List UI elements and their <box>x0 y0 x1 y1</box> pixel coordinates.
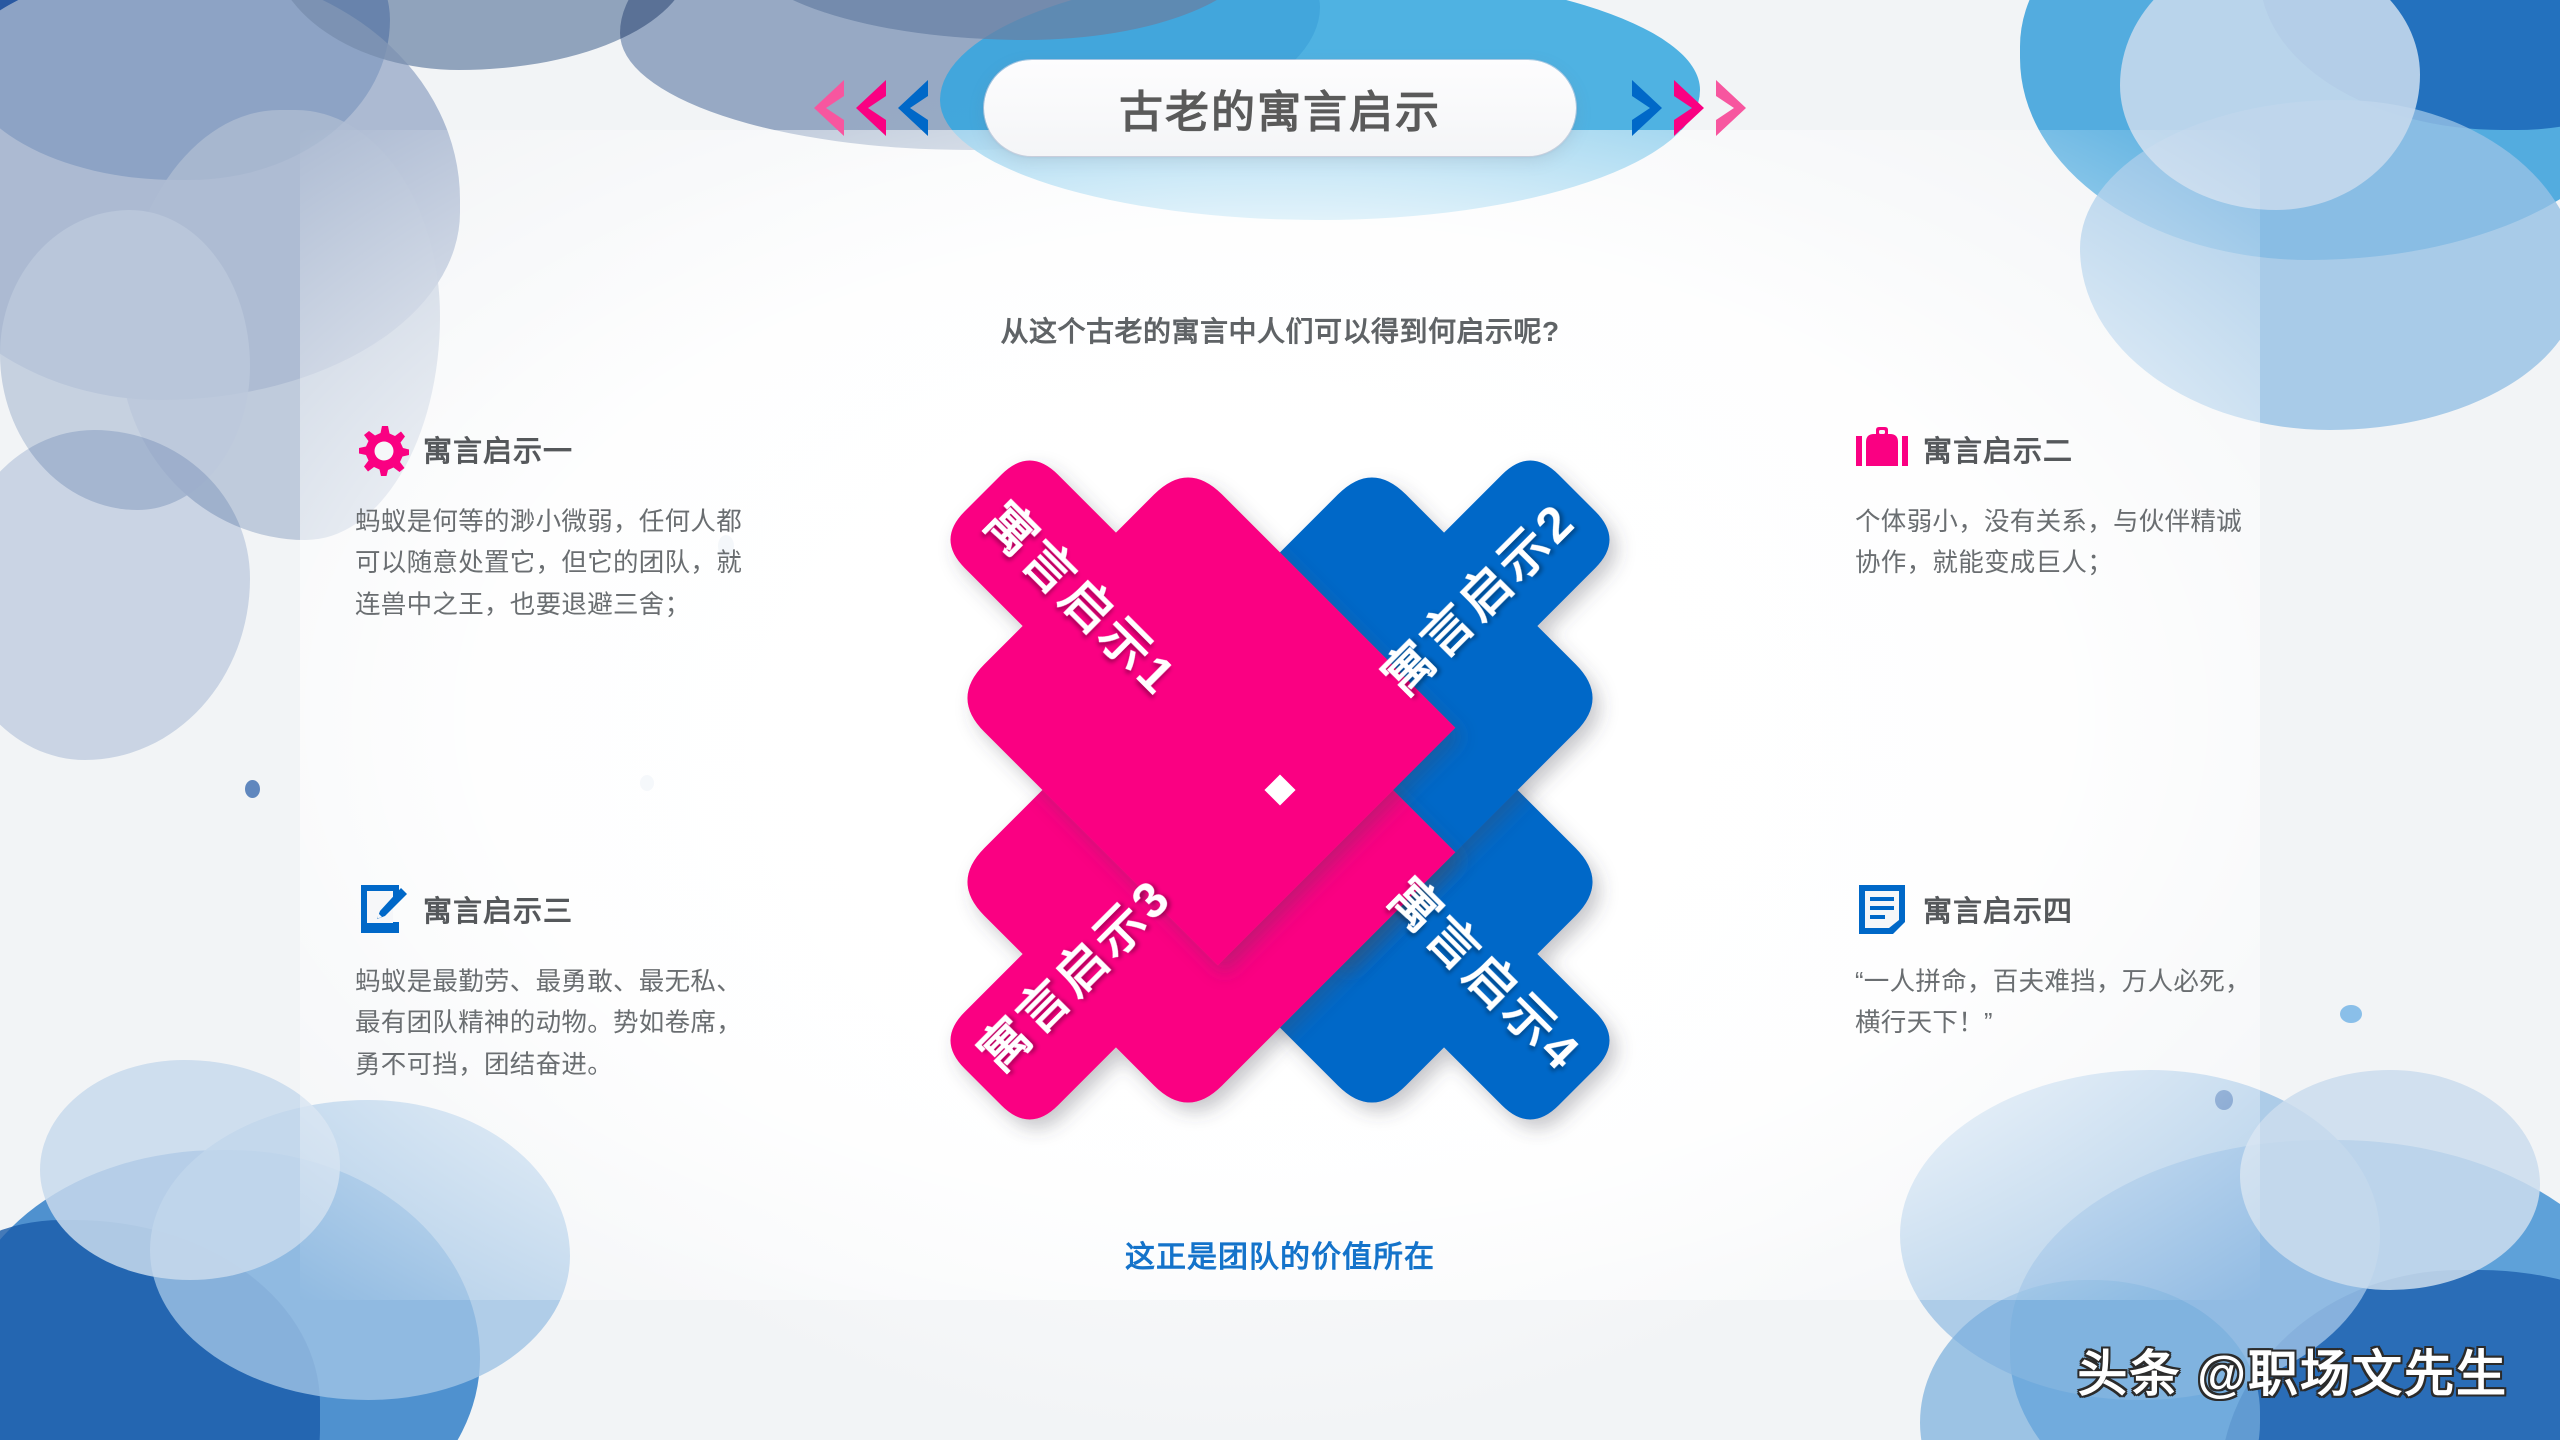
insight-block-three: 寓言启示三 蚂蚁是最勤劳、最勇敢、最无私、最有团队精神的动物。势如卷席，勇不可挡… <box>355 882 755 1086</box>
crossed-arrows-diagram: 寓言启示1 寓言启示2 寓言启示3 寓言启示4 <box>730 390 1830 1190</box>
chevron-left-icon <box>850 80 890 136</box>
block-body: 个体弱小，没有关系，与伙伴精诚协作，就能变成巨人； <box>1855 502 2255 585</box>
chevron-left-icon <box>892 80 932 136</box>
block-title: 寓言启示四 <box>1923 888 2073 930</box>
paint-speck <box>2215 1090 2233 1110</box>
block-title: 寓言启示三 <box>423 888 573 930</box>
block-body: 蚂蚁是何等的渺小微弱，任何人都可以随意处置它，但它的团队，就连兽中之王，也要退避… <box>355 502 755 626</box>
paint-speck <box>640 775 654 791</box>
block-title: 寓言启示一 <box>423 428 573 470</box>
document-pencil-icon <box>355 882 409 936</box>
insight-block-one: 寓言启示一 蚂蚁是何等的渺小微弱，任何人都可以随意处置它，但它的团队，就连兽中之… <box>355 422 755 626</box>
block-body: “一人拼命，百夫难挡，万人必死，横行天下！” <box>1855 962 2255 1045</box>
watermark: 头条 @职场文先生 <box>2077 1334 2508 1406</box>
page-title: 古老的寓言启示 <box>1119 76 1441 140</box>
footer-note: 这正是团队的价值所在 <box>0 1232 2560 1276</box>
title-row: 古老的寓言启示 <box>0 56 2560 160</box>
block-body: 蚂蚁是最勤劳、最勇敢、最无私、最有团队精神的动物。势如卷席，勇不可挡，团结奋进。 <box>355 962 755 1086</box>
chevron-right-icon <box>1712 80 1752 136</box>
briefcase-icon <box>1855 422 1909 476</box>
right-chevron-group <box>1628 80 1752 136</box>
insight-block-two: 寓言启示二 个体弱小，没有关系，与伙伴精诚协作，就能变成巨人； <box>1855 422 2255 585</box>
block-header: 寓言启示二 <box>1855 422 2255 476</box>
watercolor-left-middle <box>0 430 310 850</box>
block-header: 寓言启示四 <box>1855 882 2255 936</box>
subtitle: 从这个古老的寓言中人们可以得到何启示呢? <box>0 310 2560 350</box>
block-header: 寓言启示一 <box>355 422 755 476</box>
insight-block-four: 寓言启示四 “一人拼命，百夫难挡，万人必死，横行天下！” <box>1855 882 2255 1045</box>
chevron-right-icon <box>1628 80 1668 136</box>
slide-canvas: 古老的寓言启示 从这个古老的寓言中人们可以得到何启示呢? <box>0 0 2560 1440</box>
block-title: 寓言启示二 <box>1923 428 2073 470</box>
gear-icon <box>355 422 409 476</box>
title-pill: 古老的寓言启示 <box>984 60 1576 156</box>
chevron-right-icon <box>1670 80 1710 136</box>
paint-speck <box>245 780 260 798</box>
block-header: 寓言启示三 <box>355 882 755 936</box>
document-lines-icon <box>1855 882 1909 936</box>
chevron-left-icon <box>808 80 848 136</box>
paint-speck <box>2340 1005 2362 1023</box>
left-chevron-group <box>808 80 932 136</box>
